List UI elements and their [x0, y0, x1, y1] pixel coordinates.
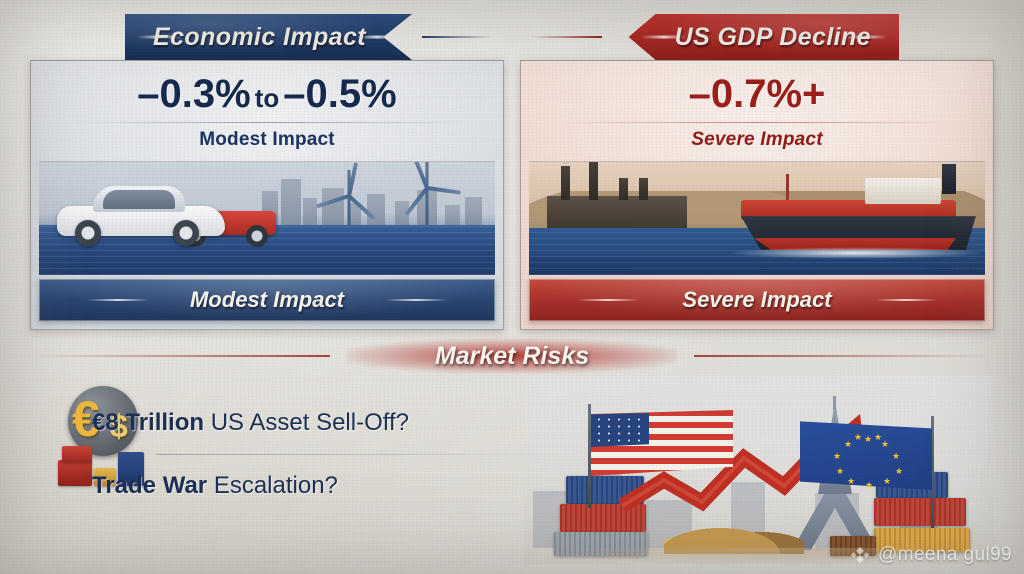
impact-cards-row: Economic Impact –0.3%to–0.5% Modest Impa…	[30, 14, 994, 330]
risk-item-text-2: Trade War Escalation?	[92, 472, 338, 500]
watermark-handle: @meena gul99	[878, 544, 1012, 566]
factory-icon	[547, 174, 687, 230]
market-risks-header: Market Risks	[30, 336, 994, 376]
panel-body-economic-impact: –0.3%to–0.5% Modest Impact	[30, 60, 504, 330]
panel-ribbon-header-left: Economic Impact	[30, 14, 504, 60]
trailer-wheel-icon	[246, 225, 268, 247]
ship-funnel-icon	[942, 164, 956, 194]
us-flag-icon	[588, 404, 738, 508]
shipping-container-icon	[58, 460, 92, 486]
eu-flag-icon: ★ ★ ★ ★ ★ ★ ★ ★ ★ ★ ★ ★	[798, 416, 938, 528]
panel-ribbon-header-right: US GDP Decline	[520, 14, 994, 60]
ribbon-us-gdp-decline: US GDP Decline	[629, 14, 899, 60]
market-risks-rule-left	[30, 355, 330, 357]
panel-footer-economic-impact: Modest Impact	[39, 279, 495, 321]
panel-title-us-gdp-decline: US GDP Decline	[675, 23, 871, 52]
risk-item-rest-2: Escalation?	[214, 472, 338, 499]
stat-value-high: –0.5%	[283, 72, 396, 116]
market-risks-list: €8 Trillion US Asset Sell-Off? Trade War…	[92, 392, 592, 517]
ribbon-line-left-right-panel	[532, 36, 602, 38]
wind-turbine-icon	[326, 162, 372, 232]
stat-divider-top-right	[555, 122, 959, 123]
turbine-mast-icon	[425, 161, 428, 232]
footer-tick-right-icon	[385, 299, 447, 301]
risk-item-text-1: €8 Trillion US Asset Sell-Off?	[92, 409, 409, 437]
us-flag-canton-icon	[591, 413, 649, 447]
panel-body-us-gdp-decline: –0.7%+ Severe Impact	[520, 60, 994, 330]
ship-foam-icon	[725, 247, 985, 259]
illustration-factory-cargo-ship	[529, 161, 985, 275]
panel-title-economic-impact: Economic Impact	[153, 23, 366, 52]
ribbon-line-right-left-panel	[422, 36, 492, 38]
market-risks-body: € $ €8 Trillion US Asset Sell-Off? Trade…	[30, 376, 994, 564]
footer-label-modest-impact: Modest Impact	[190, 287, 344, 313]
stat-subtitle-economic-impact: Modest Impact	[31, 129, 503, 151]
footer-tick-left-icon	[577, 299, 639, 301]
wind-turbine-icon	[404, 161, 450, 232]
ship-superstructure-icon	[865, 178, 941, 204]
infographic-canvas: Economic Impact –0.3%to–0.5% Modest Impa…	[0, 0, 1024, 574]
risk-item-strong-2: Trade War	[92, 472, 207, 499]
risk-item-strong-1: €8 Trillion	[92, 409, 204, 436]
market-risks-section: Market Risks € $ €8 Trillion US Asset Se…	[30, 336, 994, 564]
car-wheel-icon	[173, 220, 199, 246]
turbine-blade-icon	[348, 195, 376, 221]
stat-subtitle-us-gdp-decline: Severe Impact	[521, 129, 993, 151]
stat-value-low: –0.3%	[137, 72, 250, 116]
risk-item-asset-selloff[interactable]: €8 Trillion US Asset Sell-Off?	[92, 392, 592, 454]
smokestack-icon	[589, 161, 598, 200]
stat-value-connector: to	[251, 83, 284, 113]
smokestack-icon	[639, 178, 648, 200]
market-risks-title: Market Risks	[435, 342, 589, 371]
white-car-icon	[57, 188, 225, 246]
eu-flag-stars-icon: ★ ★ ★ ★ ★ ★ ★ ★ ★ ★ ★ ★	[834, 438, 904, 480]
footer-tick-left-icon	[87, 299, 149, 301]
panel-economic-impact: Economic Impact –0.3%to–0.5% Modest Impa…	[30, 14, 504, 330]
car-wheel-icon	[75, 220, 101, 246]
ship-mast-icon	[786, 174, 789, 200]
risk-item-rest-1: US Asset Sell-Off?	[211, 409, 409, 436]
flag-pole-icon	[588, 404, 591, 508]
cargo-ship-icon	[726, 174, 976, 250]
watermark: @meena gul99	[849, 544, 1012, 566]
smokestack-icon	[561, 166, 570, 200]
factory-building-icon	[547, 196, 687, 230]
shipping-container-icon	[62, 446, 92, 462]
smokestack-icon	[619, 178, 628, 200]
footer-label-severe-impact: Severe Impact	[682, 287, 831, 313]
stat-block-economic-impact: –0.3%to–0.5% Modest Impact	[31, 61, 503, 155]
illustration-car-wind-turbines	[39, 161, 495, 275]
car-window-icon	[103, 190, 175, 209]
footer-tick-right-icon	[875, 299, 937, 301]
diamond-logo-icon	[849, 544, 871, 566]
illustration-trade-war: ★ ★ ★ ★ ★ ★ ★ ★ ★ ★ ★ ★	[524, 376, 994, 564]
market-risks-rule-right	[694, 355, 994, 357]
stat-block-us-gdp-decline: –0.7%+ Severe Impact	[521, 61, 993, 155]
stat-value-us-gdp-decline: –0.7%+	[521, 73, 993, 115]
panel-us-gdp-decline: US GDP Decline –0.7%+ Severe Impact	[520, 14, 994, 330]
stat-divider-top-left	[65, 122, 469, 123]
risk-item-trade-war[interactable]: Trade War Escalation?	[92, 455, 592, 517]
stat-value-economic-impact: –0.3%to–0.5%	[31, 73, 503, 115]
ribbon-economic-impact: Economic Impact	[125, 14, 412, 60]
panel-footer-us-gdp-decline: Severe Impact	[529, 279, 985, 321]
